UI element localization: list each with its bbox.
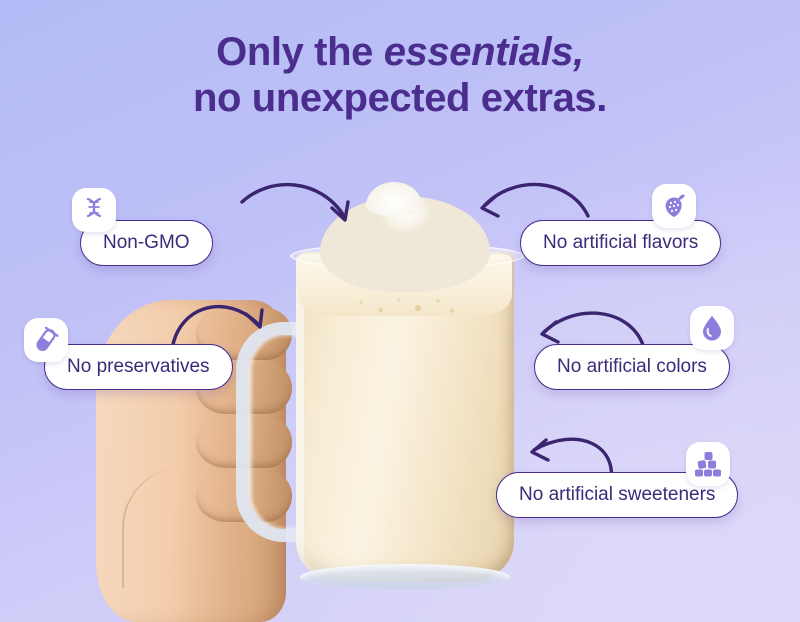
foam-bubbles (350, 292, 460, 318)
droplet-icon (690, 306, 734, 350)
promo-graphic: Only the essentials, no unexpected extra… (0, 0, 800, 622)
chip-label: No artificial flavors (543, 232, 698, 254)
chip-label: Non-GMO (103, 232, 190, 254)
chip-label: No artificial colors (557, 356, 707, 378)
chip-no-artificial-colors[interactable]: No artificial colors (534, 344, 730, 390)
thumb-crease (122, 468, 244, 588)
sugar-cubes-icon (686, 442, 730, 486)
chip-label: No artificial sweeteners (519, 484, 715, 506)
chip-no-artificial-flavors[interactable]: No artificial flavors (520, 220, 721, 266)
berry-icon (652, 184, 696, 228)
whipped-cream (320, 196, 490, 292)
mug-base (300, 564, 510, 590)
chip-label: No preservatives (67, 356, 210, 378)
test-tube-icon (24, 318, 68, 362)
product-image (0, 0, 800, 622)
chip-no-preservatives[interactable]: No preservatives (44, 344, 233, 390)
glass-mug (296, 252, 514, 582)
dna-icon (72, 188, 116, 232)
